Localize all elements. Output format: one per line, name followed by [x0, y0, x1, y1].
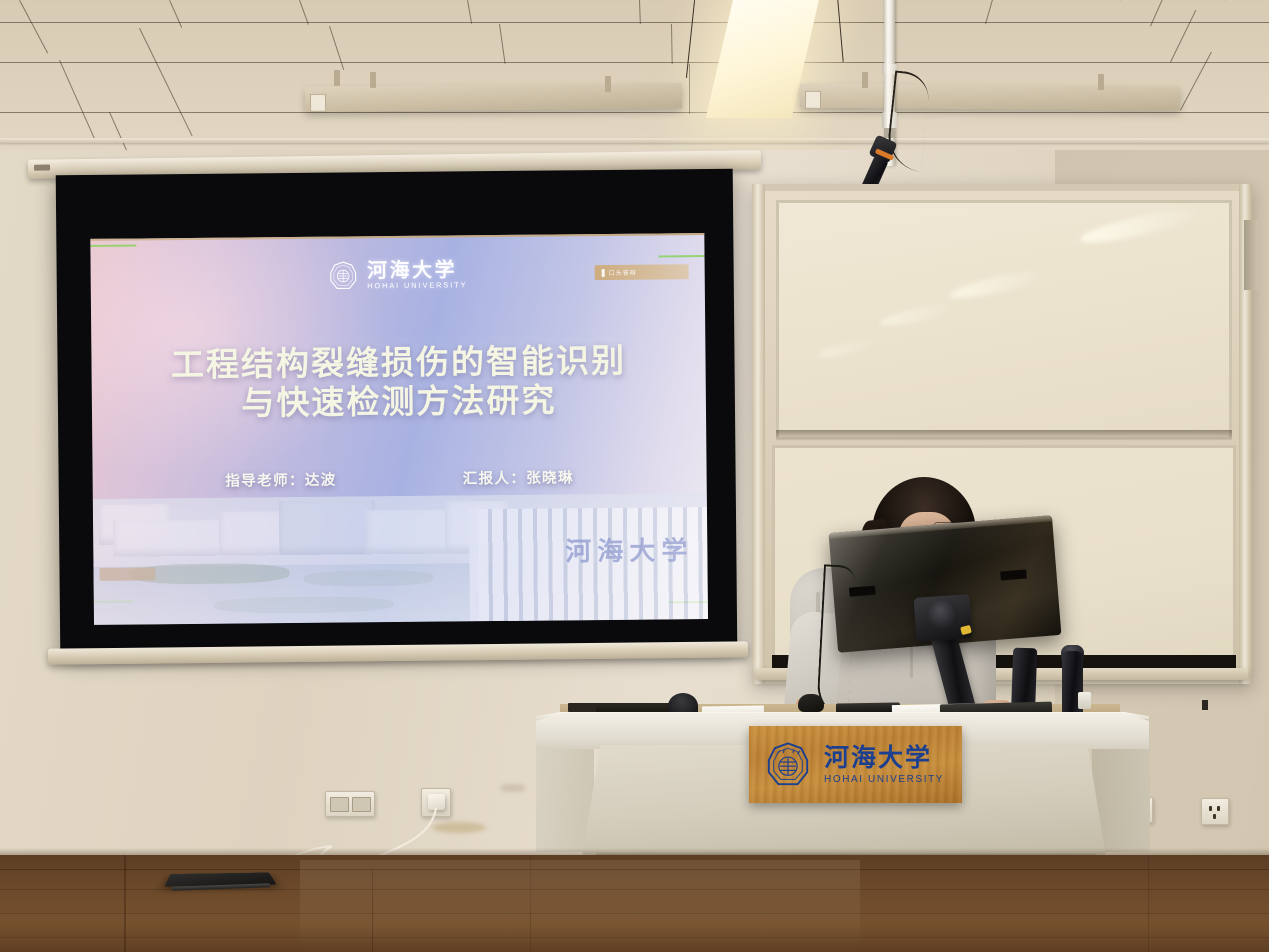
projection-screen: 河海大学 河海大学 HOHAI UN [56, 169, 738, 655]
data-jack-plate[interactable] [325, 791, 375, 817]
screen-housing-label [34, 165, 50, 171]
presentation-slide: 河海大学 河海大学 HOHAI UN [90, 233, 708, 625]
slide-presenter: 汇报人：张晓琳 [463, 466, 575, 488]
slide-logo-name-cn: 河海大学 [367, 259, 457, 281]
hohai-seal-icon [328, 260, 359, 291]
desk-small-block [1202, 700, 1208, 710]
ceiling-hanging-panel-right [800, 84, 1180, 111]
slide-title-line1: 工程结构裂缝损伤的智能识别 [91, 341, 705, 386]
slide-title-line2: 与快速检测方法研究 [92, 380, 706, 425]
classroom-scene: 河海大学 河海大学 HOHAI UN [0, 0, 1269, 952]
podium-plaque: 河海大学 HOHAI UNIVERSITY [749, 726, 962, 803]
bookmark-icon [602, 268, 605, 276]
campus-facade-text: 河海大学 [565, 530, 693, 568]
panel-label-right [805, 91, 821, 109]
computer-mouse[interactable] [798, 694, 824, 712]
panel-label-left [310, 94, 326, 112]
plaque-name-cn: 河海大学 [824, 745, 944, 770]
slide-title: 工程结构裂缝损伤的智能识别 与快速检测方法研究 [91, 341, 706, 424]
slide-advisor: 指导老师：达波 [225, 469, 337, 491]
whiteboard-panel-upper [776, 200, 1232, 440]
whiteboard-side-bracket [1244, 220, 1258, 290]
whiteboard-panel-shadow [776, 430, 1232, 441]
power-outlet-right[interactable] [1201, 798, 1229, 825]
ceiling-hanging-panel-left [305, 83, 682, 112]
slide-badge-text: 口头答辩 [609, 268, 637, 277]
slide-badge: 口头答辩 [595, 264, 689, 280]
whiteboard-rail-left [752, 184, 765, 684]
floor-light-reflection [300, 860, 860, 952]
handheld-mic-tag [1078, 692, 1091, 709]
campus-signboard [99, 567, 155, 581]
plaque-name-en: HOHAI UNIVERSITY [824, 774, 944, 785]
power-plug [428, 794, 445, 810]
slide-campus-photo: 河海大学 [93, 493, 708, 625]
slide-subtitle: 指导老师：达波 汇报人：张晓琳 [93, 465, 707, 492]
monitor-pivot-hub [928, 600, 958, 630]
hohai-seal-icon [764, 741, 812, 789]
keyboard-left-section[interactable] [836, 702, 900, 713]
slide-logo-name-en: HOHAI UNIVERSITY [367, 281, 467, 291]
